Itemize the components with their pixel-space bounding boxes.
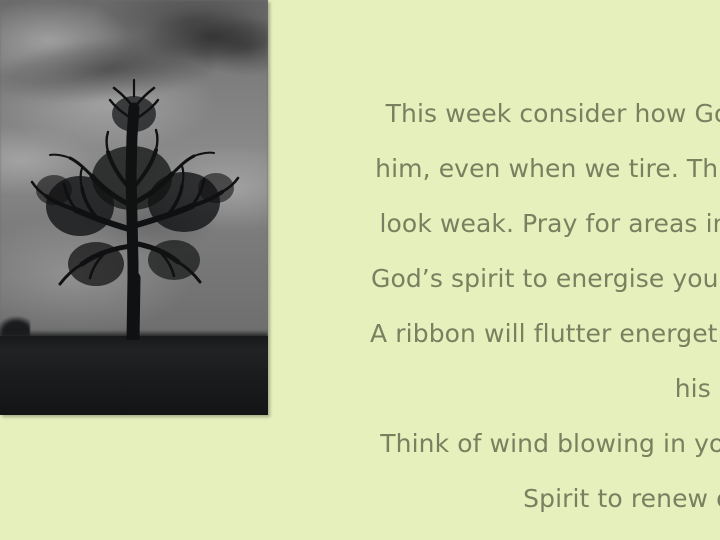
page-root: This week consider how God him, even whe… <box>0 0 720 540</box>
devotion-line: look weak. Pray for areas in y <box>268 196 720 251</box>
photo-ground <box>0 336 268 415</box>
devotion-line: Think of wind blowing in your <box>268 416 720 471</box>
devotion-line: God’s spirit to energise you, to <box>268 251 720 306</box>
devotion-line: his powe <box>268 361 720 416</box>
devotion-line: Spirit to renew our <box>268 471 720 526</box>
tree-silhouette-icon <box>24 78 244 340</box>
devotion-line: This week consider how God <box>268 86 720 141</box>
cloud-streak-secondary-icon <box>139 8 268 66</box>
devotion-text-block: This week consider how God him, even whe… <box>268 86 720 526</box>
devotion-line: A ribbon will flutter energetical <box>268 306 720 361</box>
devotion-line: him, even when we tire. Think <box>268 141 720 196</box>
tree-photo <box>0 0 268 415</box>
